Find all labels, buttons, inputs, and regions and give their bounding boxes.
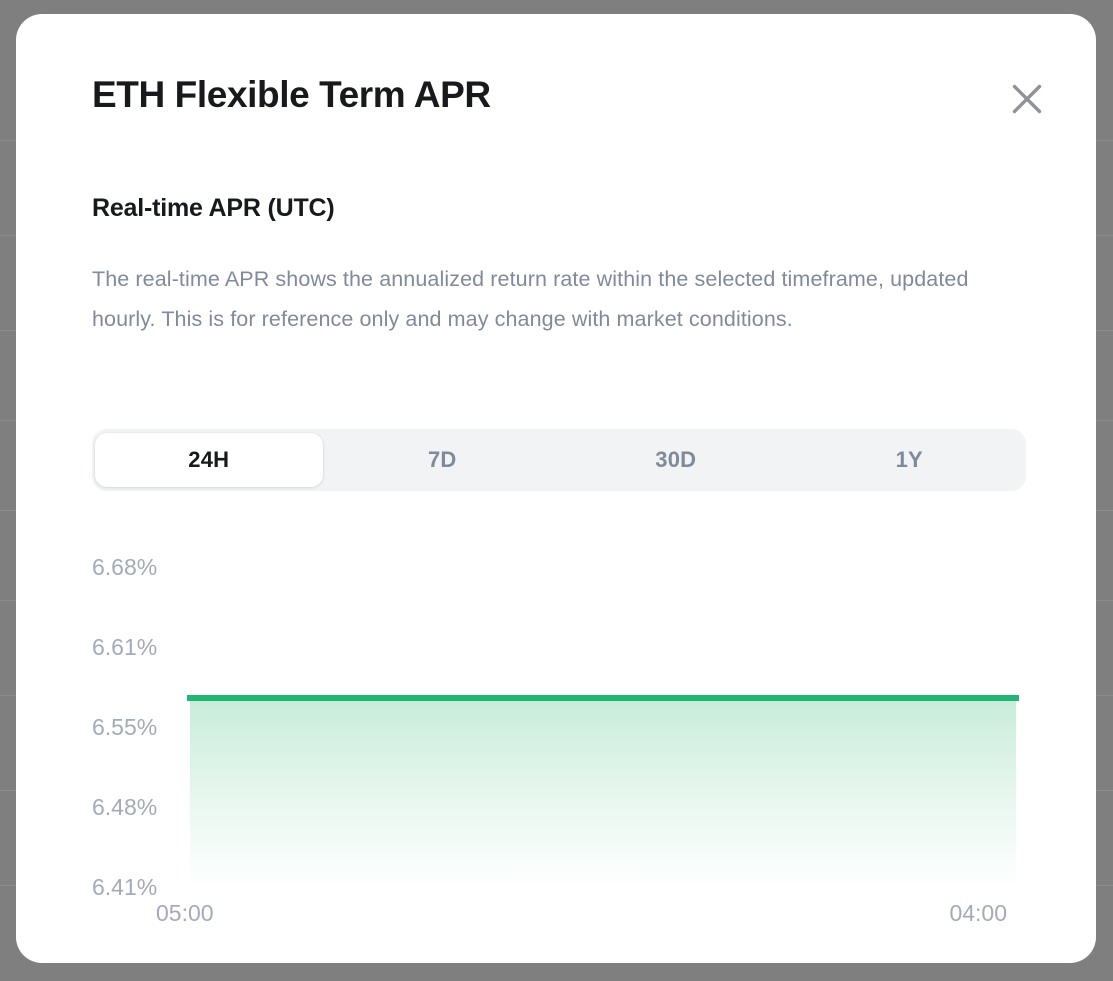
x-axis-label-start: 05:00 (156, 897, 214, 929)
chart-x-axis: 05:00 04:00 (92, 897, 1026, 933)
apr-detail-modal: ETH Flexible Term APR Real-time APR (UTC… (16, 14, 1096, 963)
x-axis-label-end: 04:00 (949, 897, 1007, 929)
timeframe-tabs: 24H7D30D1Y (92, 429, 1026, 491)
y-axis-tick-label: 6.55% (16, 713, 186, 741)
chart-plot-area[interactable] (190, 519, 1016, 889)
chart-svg (190, 519, 1016, 889)
tab-24h[interactable]: 24H (95, 433, 323, 487)
tab-30d[interactable]: 30D (562, 433, 790, 487)
chart-y-axis: 6.68%6.61%6.55%6.48%6.41% (16, 519, 186, 889)
page-title: ETH Flexible Term APR (92, 72, 491, 118)
modal-header: ETH Flexible Term APR (92, 72, 1050, 132)
close-icon (1009, 81, 1045, 117)
close-button[interactable] (1004, 76, 1050, 122)
description-text: The real-time APR shows the annualized r… (92, 259, 1002, 339)
apr-chart: 6.68%6.61%6.55%6.48%6.41% 05:00 (16, 519, 1096, 939)
y-axis-tick-label: 6.48% (16, 793, 186, 821)
section-title: Real-time APR (UTC) (92, 191, 335, 225)
tab-1y[interactable]: 1Y (796, 433, 1024, 487)
screen: ETH Flexible Term APR Real-time APR (UTC… (0, 0, 1113, 981)
chart-area-fill (190, 698, 1016, 889)
y-axis-tick-label: 6.68% (16, 553, 186, 581)
tab-7d[interactable]: 7D (329, 433, 557, 487)
y-axis-tick-label: 6.61% (16, 633, 186, 661)
